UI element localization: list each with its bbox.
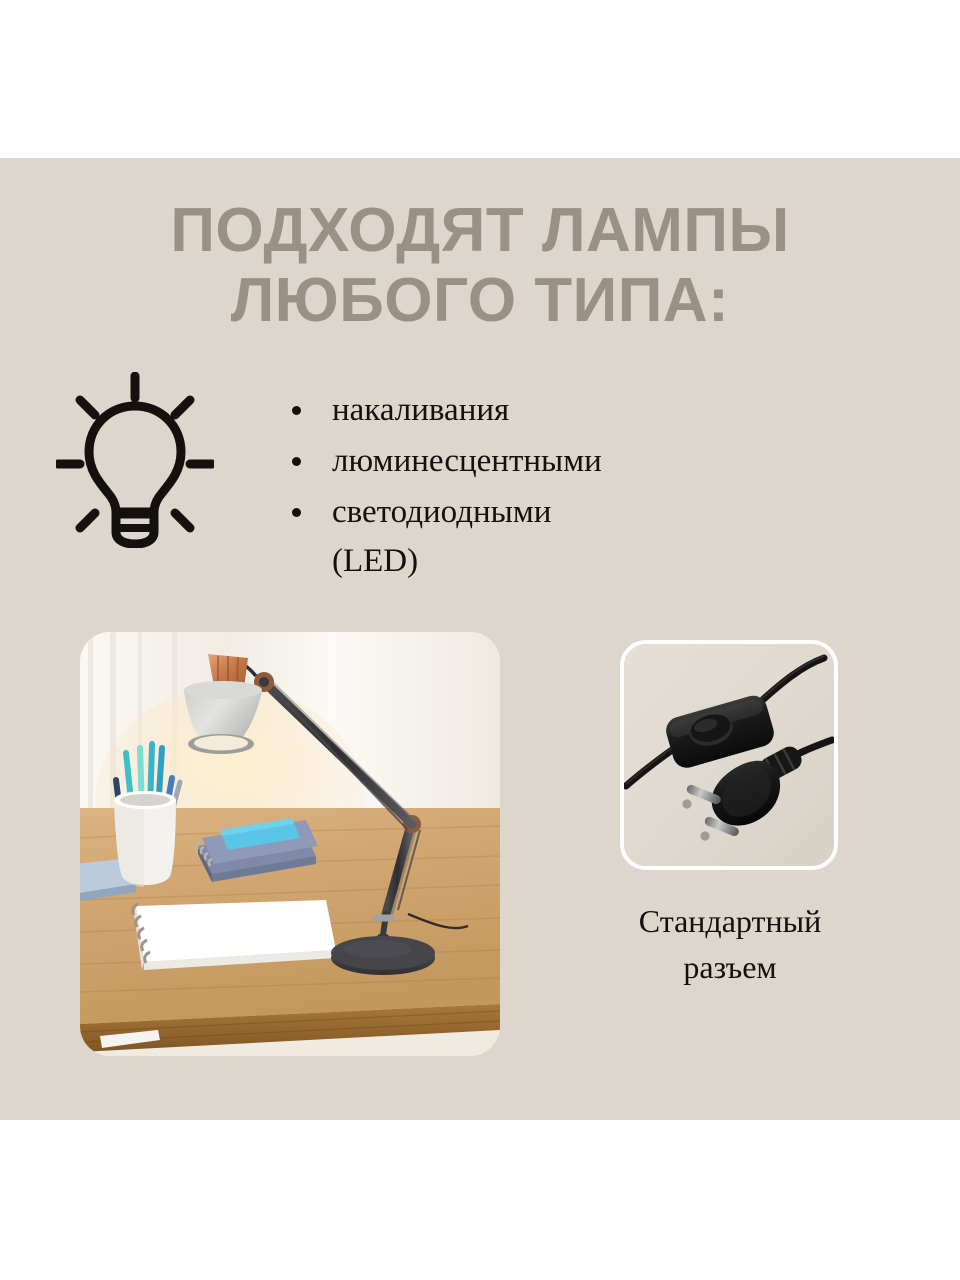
list-item: люминесцентными bbox=[288, 437, 848, 486]
product-infographic-card: ПОДХОДЯТ ЛАМПЫ ЛЮБОГО ТИПА: bbox=[0, 0, 960, 1280]
list-item-label: люминесцентными bbox=[332, 437, 848, 486]
lightbulb-icon bbox=[56, 372, 214, 548]
list-item: светодиодными (LED) bbox=[288, 488, 848, 586]
desk-lamp-photo bbox=[80, 632, 500, 1056]
list-item-label-secondary: (LED) bbox=[332, 537, 848, 586]
list-item-label: светодиодными bbox=[332, 488, 848, 537]
bullet-dot-icon bbox=[292, 457, 301, 466]
lamp-types-list: накаливания люминесцентными светодиодным… bbox=[288, 386, 848, 588]
list-item-label: накаливания bbox=[332, 386, 848, 435]
switch-and-plug-photo bbox=[620, 640, 838, 870]
plug-caption-line-2: разъем bbox=[578, 944, 882, 990]
plug-caption-line-1: Стандартный bbox=[578, 898, 882, 944]
bullet-dot-icon bbox=[292, 508, 301, 517]
bullet-dot-icon bbox=[292, 406, 301, 415]
headline-line-2: ЛЮБОГО ТИПА: bbox=[0, 266, 960, 336]
plug-caption: Стандартный разъем bbox=[578, 898, 882, 990]
headline-line-1: ПОДХОДЯТ ЛАМПЫ bbox=[0, 196, 960, 266]
page-title: ПОДХОДЯТ ЛАМПЫ ЛЮБОГО ТИПА: bbox=[0, 196, 960, 336]
list-item: накаливания bbox=[288, 386, 848, 435]
